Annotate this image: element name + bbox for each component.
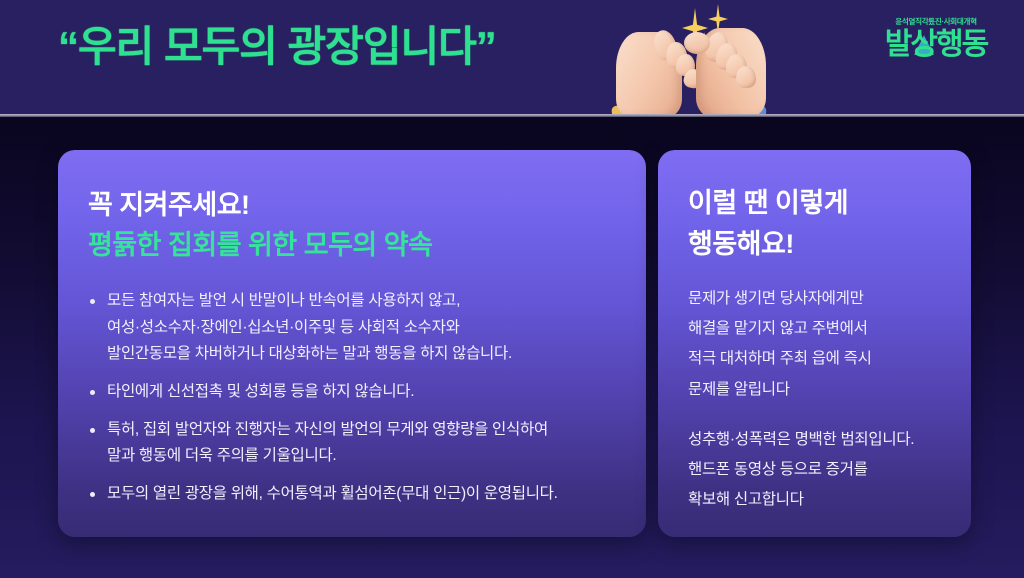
- interlocked-pinkies: [684, 32, 710, 54]
- logo-name: 발상행동: [885, 28, 987, 61]
- list-item: 모두의 열린 광장을 위해, 수어통역과 휠섬어존(무대 인근)이 운영됩니다.: [86, 481, 634, 508]
- header-band: “우리 모두의 광장입니다”: [0, 0, 1024, 114]
- pledge-line: 모든 참여자는 발언 시 반말이나 반속어를 사용하지 않고,: [107, 288, 634, 315]
- action-guide-paragraph: 성추행·성폭력은 명백한 범죄입니다. 핸드폰 동영상 등으로 증거를 확보해 …: [688, 425, 950, 516]
- action-guide-card: 이럴 땐 이렇게 행동해요! 문제가 생기면 당사자에게만 해결을 맡기지 않고…: [658, 150, 971, 537]
- pledge-card-heading-secondary: 평듉한 집회를 위한 모두의 약속: [88, 223, 432, 262]
- action-guide-heading: 이럴 땐 이렇게 행동해요!: [688, 183, 848, 264]
- logo-tagline: 윤석열직각톴진·사회대개혁: [880, 18, 992, 26]
- poster-canvas: “우리 모두의 광장입니다”: [0, 0, 1024, 578]
- list-item: 특허, 집회 발언자와 진행자는 자신의 발언의 무게와 영향량을 인식하여 말…: [86, 417, 634, 470]
- action-guide-line: 문제를 알립니다: [688, 375, 950, 405]
- logo-wordmark: 발상행동: [880, 29, 992, 61]
- pledge-card-heading-primary: 꼭 지켜주세요!: [88, 183, 250, 222]
- action-guide-line: 문제가 생기면 당사자에게만: [688, 284, 950, 314]
- organization-logo: 윤석열직각톴진·사회대개혁 발상행동: [880, 18, 992, 61]
- action-guide-line: 핸드폰 동영상 등으로 증거를: [688, 455, 950, 485]
- header-divider: [0, 114, 1024, 117]
- pledge-line: 모두의 열린 광장을 위해, 수어통역과 휠섬어존(무대 인근)이 운영됩니다.: [107, 481, 634, 508]
- action-guide-line: 확보해 신고합니다: [688, 485, 950, 515]
- action-guide-line: 적극 대처하며 주최 읍에 즉시: [688, 344, 950, 374]
- action-guide-heading-line: 이럴 땐 이렇게: [688, 183, 848, 224]
- action-guide-line: 성추행·성폭력은 명백한 범죄입니다.: [688, 425, 950, 455]
- action-guide-paragraph: 문제가 생기면 당사자에게만 해결을 맡기지 않고 주변에서 적극 대처하며 주…: [688, 284, 950, 405]
- pledge-line: 여성·성소수자·장에인·십소년·이주및 등 사회적 소수자와: [107, 315, 634, 342]
- action-guide-line: 해결을 맡기지 않고 주변에서: [688, 314, 950, 344]
- pledge-card: 꼭 지켜주세요! 평듉한 집회를 위한 모두의 약속 모든 참여자는 발언 시 …: [58, 150, 646, 537]
- action-guide-body: 문제가 생기면 당사자에게만 해결을 맡기지 않고 주변에서 적극 대처하며 주…: [688, 284, 950, 536]
- pledge-line: 타인에게 신선접촉 및 성회롱 등을 하지 않습니다.: [107, 379, 634, 406]
- page-title: “우리 모두의 광장입니다”: [58, 21, 496, 74]
- action-guide-heading-line: 행동해요!: [688, 224, 848, 265]
- pinky-promise-hands-illustration: [610, 0, 782, 114]
- list-item: 타인에게 신선접촉 및 성회롱 등을 하지 않습니다.: [86, 379, 634, 406]
- pledge-list: 모든 참여자는 발언 시 반말이나 반속어를 사용하지 않고, 여성·성소수자·…: [86, 288, 634, 519]
- list-item: 모든 참여자는 발언 시 반말이나 반속어를 사용하지 않고, 여성·성소수자·…: [86, 288, 634, 368]
- pledge-line: 발인간동모을 차버하거나 대상화하는 말과 행동을 하지 않습니다.: [107, 341, 634, 368]
- pledge-line: 특허, 집회 발언자와 진행자는 자신의 발언의 무게와 영향량을 인식하여: [107, 417, 634, 444]
- pledge-line: 말과 행동에 더욱 주의를 기울입니다.: [107, 443, 634, 470]
